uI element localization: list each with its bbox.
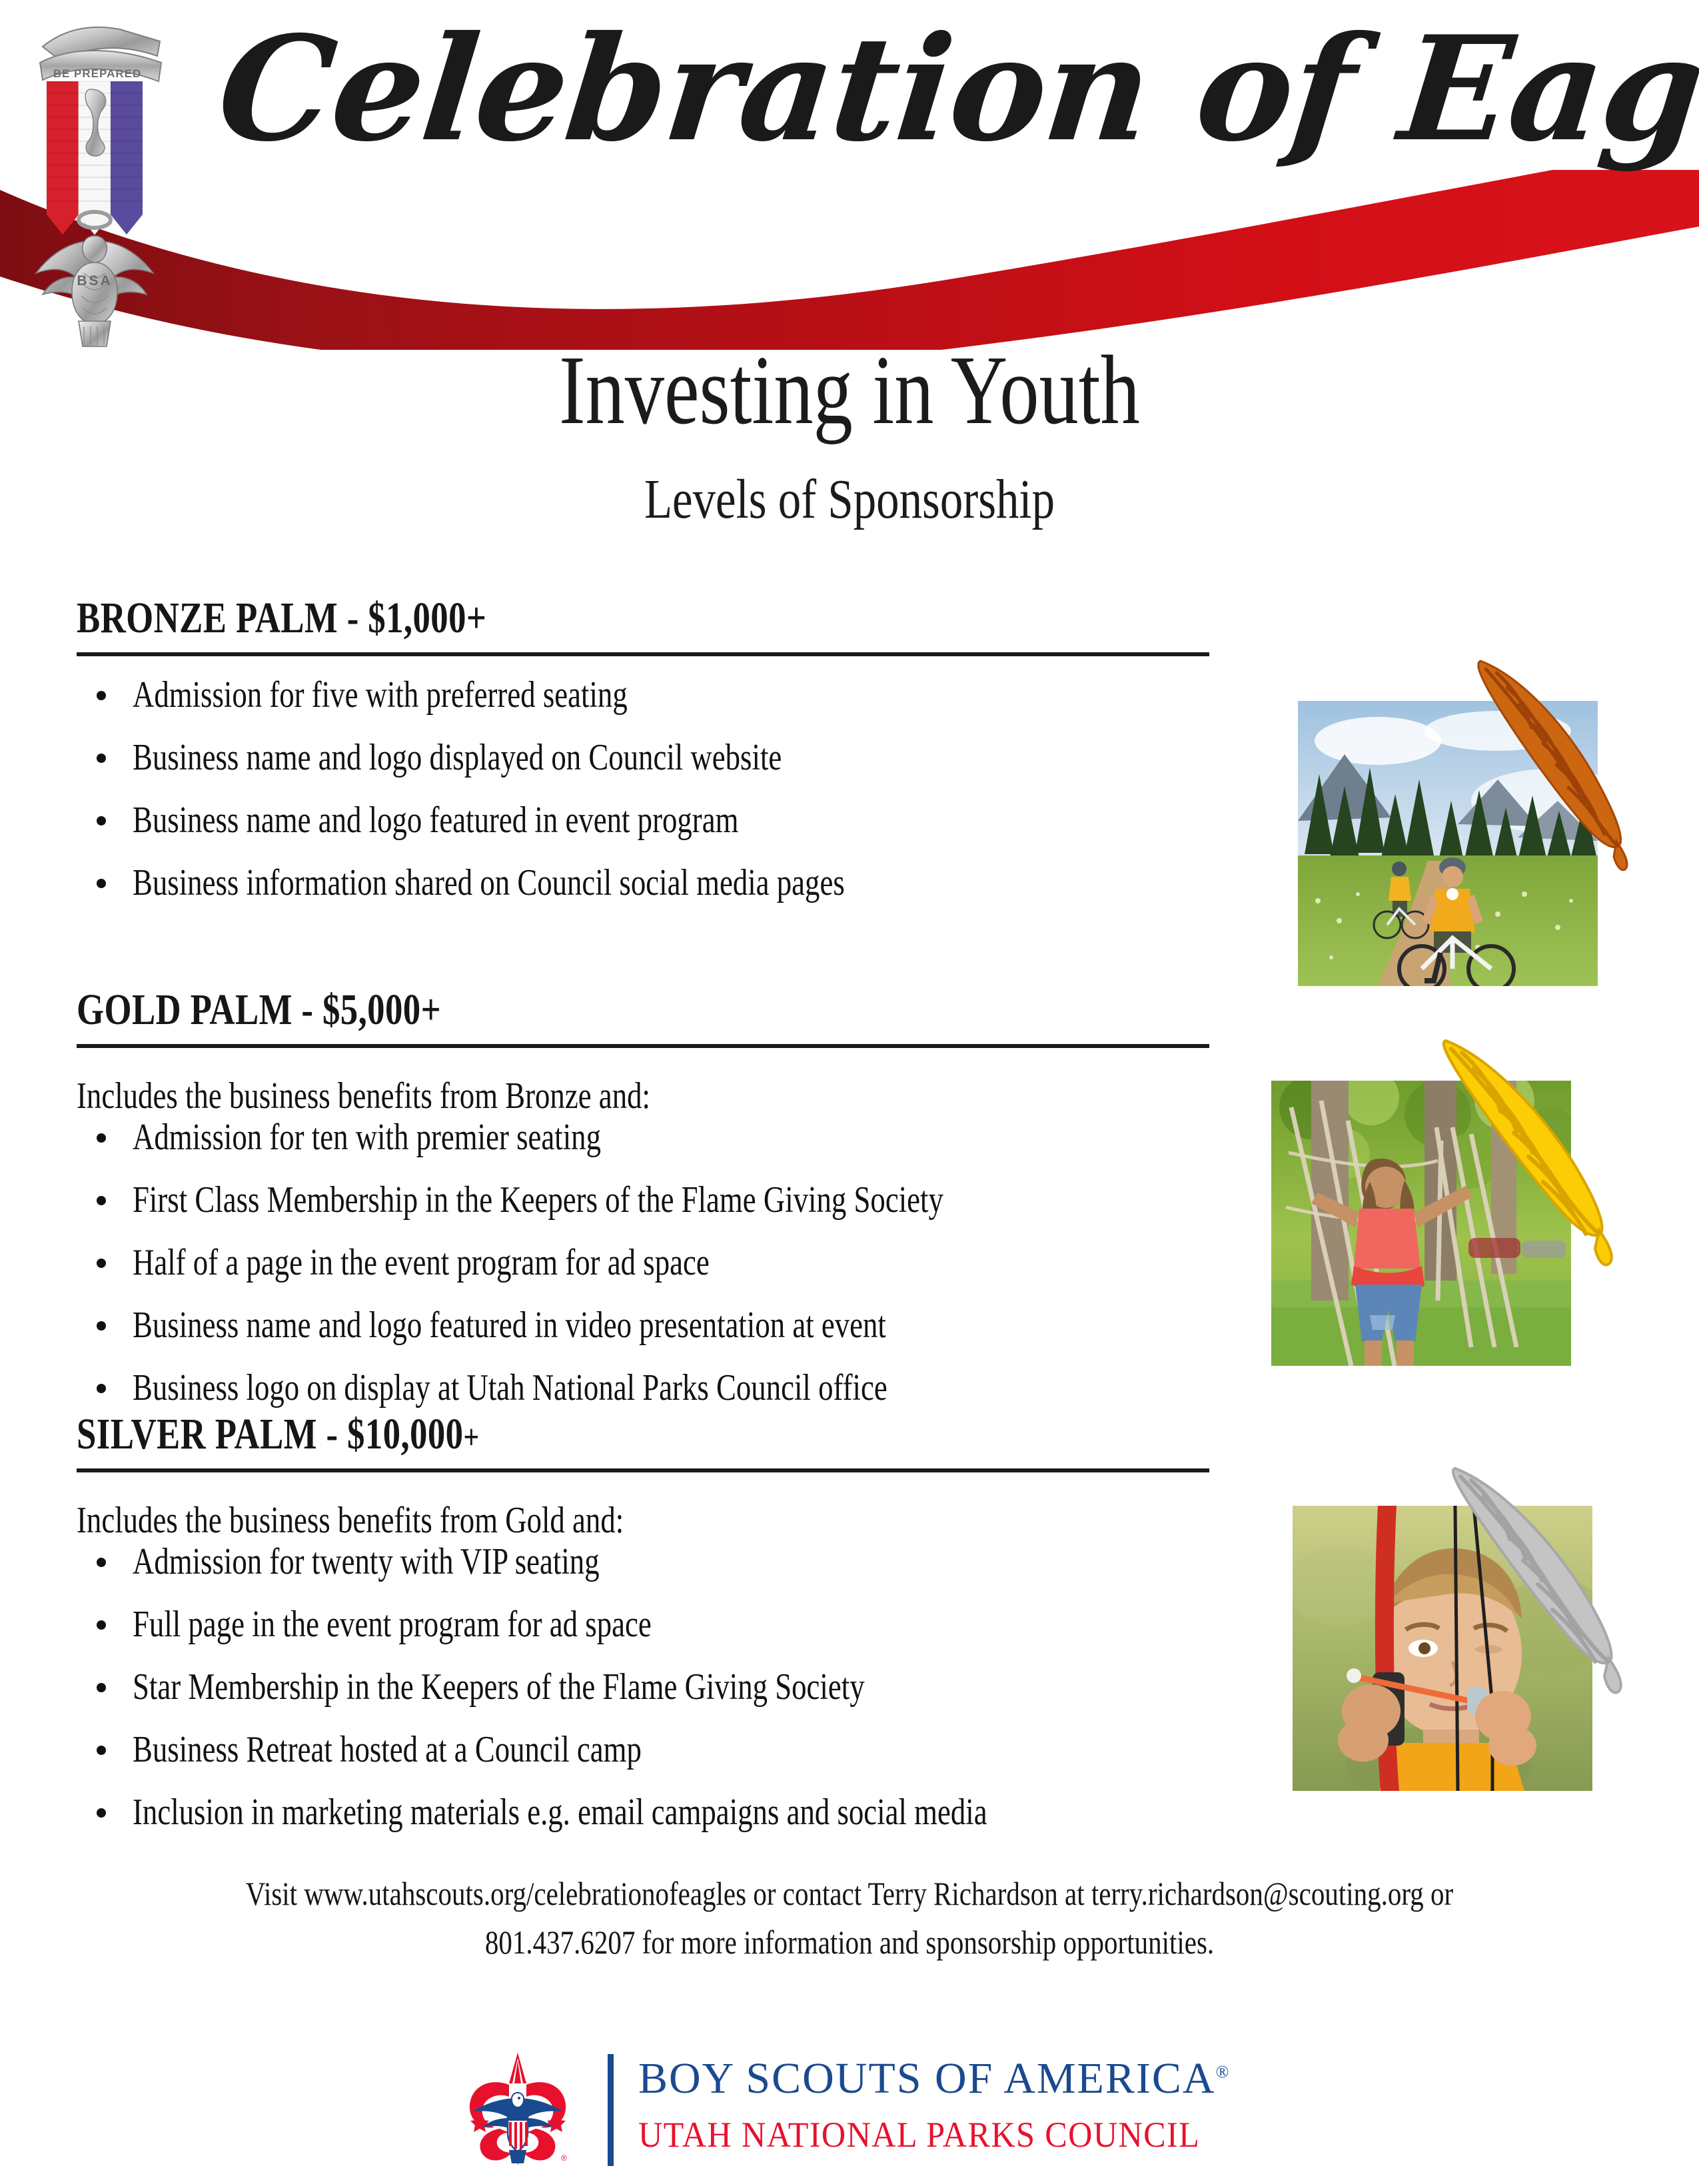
photo-archery: [1293, 1506, 1606, 1799]
page-title: Investing in Youth: [170, 341, 1529, 440]
section-gold: GOLD PALM - $5,000+ Includes the busines…: [77, 988, 1209, 1432]
section-heading-text: SILVER PALM - $10,000: [77, 1410, 463, 1458]
section-heading-bronze: BRONZE PALM - $1,000+: [77, 596, 983, 640]
list-item: Full page in the event program for ad sp…: [77, 1606, 1209, 1643]
eagle-scout-medal-icon: BE PREPARED: [27, 15, 173, 354]
poster-page: Celebration of Eagles BE PREPARED: [0, 0, 1699, 2184]
photo-frame: [1271, 1081, 1571, 1366]
list-item: Business name and logo displayed on Coun…: [77, 739, 1209, 776]
medal-bsa-text: BSA: [77, 273, 112, 288]
benefit-list-bronze: Admission for five with preferred seatin…: [77, 676, 1209, 901]
list-item: Inclusion in marketing materials e.g. em…: [77, 1794, 1209, 1831]
list-item: Business name and logo featured in video…: [77, 1307, 1209, 1344]
list-item: Admission for ten with premier seating: [77, 1119, 1209, 1156]
section-heading-text: BRONZE PALM - $1,000: [77, 594, 466, 642]
contact-line-1: Visit www.utahscouts.org/celebrationofea…: [153, 1870, 1546, 1918]
photo-frame: [1298, 701, 1598, 986]
contact-line-2: 801.437.6207 for more information and sp…: [153, 1918, 1546, 1967]
section-silver: SILVER PALM - $10,000+ Includes the busi…: [77, 1412, 1209, 1856]
registered-mark: ®: [1216, 2062, 1231, 2081]
rope-course-illustration: [1271, 1081, 1571, 1366]
list-item: Admission for twenty with VIP seating: [77, 1543, 1209, 1580]
list-item: Business Retreat hosted at a Council cam…: [77, 1731, 1209, 1768]
red-ribbon-swoosh: [0, 170, 1699, 350]
page-subtitle: Levels of Sponsorship: [153, 472, 1546, 528]
section-intro-gold: Includes the business benefits from Bron…: [77, 1077, 983, 1115]
list-item: First Class Membership in the Keepers of…: [77, 1181, 1209, 1219]
mountain-biking-illustration: [1298, 701, 1598, 986]
section-rule-silver: [77, 1468, 1209, 1472]
section-heading-gold: GOLD PALM - $5,000+: [77, 988, 983, 1032]
photo-rope-course: [1271, 1081, 1584, 1374]
section-heading-plus: +: [421, 985, 441, 1034]
list-item: Business logo on display at Utah Nationa…: [77, 1369, 1209, 1406]
photo-frame: [1293, 1506, 1592, 1791]
photo-mountain-biking: [1298, 701, 1604, 994]
benefit-list-gold: Admission for ten with premier seating F…: [77, 1119, 1209, 1406]
section-heading-plus: +: [466, 594, 486, 642]
event-script-title: Celebration of Eagles: [212, 13, 1640, 165]
list-item: Admission for five with preferred seatin…: [77, 676, 1209, 714]
section-rule-gold: [77, 1044, 1209, 1048]
section-heading-silver: SILVER PALM - $10,000+: [77, 1412, 983, 1456]
section-intro-silver: Includes the business benefits from Gold…: [77, 1502, 983, 1539]
logo-divider: [608, 2054, 614, 2166]
bsa-logo: ® BOY SCOUTS OF AMERICA® UTAH NATIONAL P…: [460, 2049, 1239, 2165]
poster-header: Celebration of Eagles BE PREPARED: [0, 0, 1699, 346]
list-item: Half of a page in the event program for …: [77, 1244, 1209, 1281]
section-rule-bronze: [77, 652, 1209, 656]
council-name: UTAH NATIONAL PARKS COUNCIL: [638, 2117, 1200, 2153]
list-item: Business information shared on Council s…: [77, 864, 1209, 901]
contact-footer: Visit www.utahscouts.org/celebrationofea…: [0, 1870, 1699, 1966]
org-name: BOY SCOUTS OF AMERICA®: [638, 2057, 1230, 2101]
bsa-fleur-de-lis-eagle-emblem: ®: [460, 2049, 576, 2165]
svg-text:BE PREPARED: BE PREPARED: [53, 67, 142, 80]
archery-illustration: [1293, 1506, 1592, 1791]
section-heading-text: GOLD PALM - $5,000: [77, 985, 421, 1034]
list-item: Star Membership in the Keepers of the Fl…: [77, 1668, 1209, 1706]
benefit-list-silver: Admission for twenty with VIP seating Fu…: [77, 1543, 1209, 1831]
registered-mark-icon: ®: [561, 2153, 567, 2163]
section-heading-plus: +: [463, 1418, 479, 1456]
section-bronze: BRONZE PALM - $1,000+ Admission for five…: [77, 596, 1209, 927]
list-item: Business name and logo featured in event…: [77, 802, 1209, 839]
